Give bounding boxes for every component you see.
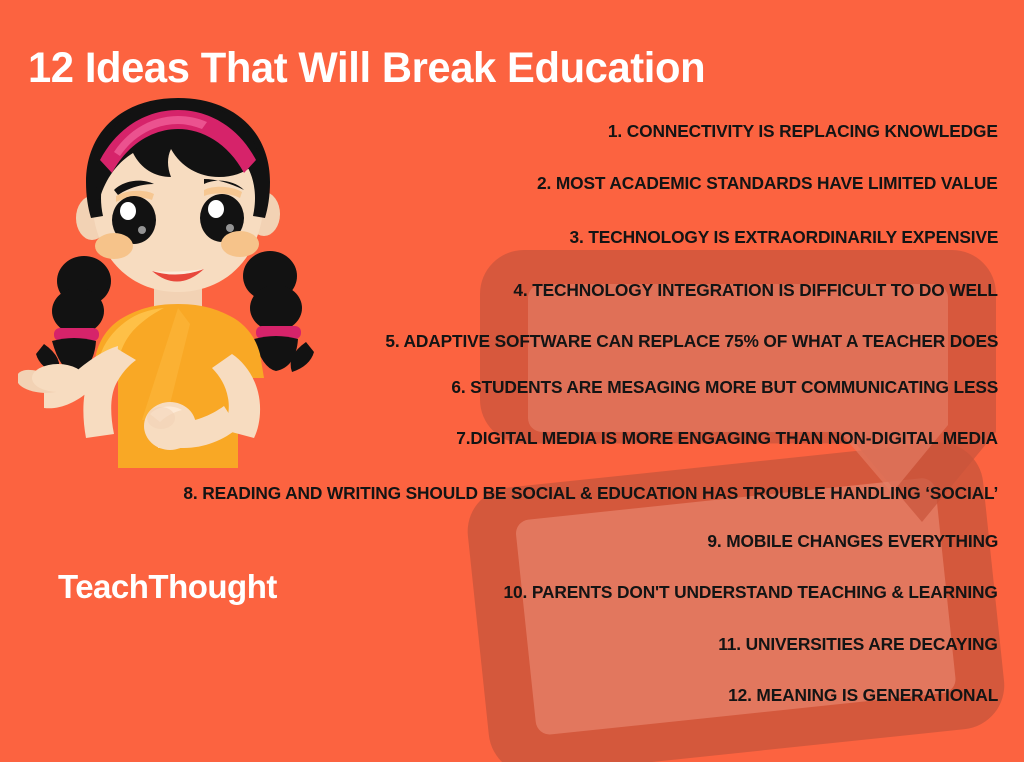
list-item-7: 7.DIGITAL MEDIA IS MORE ENGAGING THAN NO…: [456, 427, 998, 449]
cartoon-girl-illustration: [18, 96, 338, 468]
brand-logo-text: TeachThought: [58, 568, 277, 606]
list-item-11: 11. UNIVERSITIES ARE DECAYING: [719, 633, 998, 655]
list-item-8: 8. READING AND WRITING SHOULD BE SOCIAL …: [183, 482, 998, 504]
page-title: 12 Ideas That Will Break Education: [28, 43, 705, 93]
infographic-poster: 12 Ideas That Will Break Education: [0, 0, 1024, 768]
list-item-9: 9. MOBILE CHANGES EVERYTHING: [707, 530, 998, 552]
list-item-1: 1. CONNECTIVITY IS REPLACING KNOWLEDGE: [608, 120, 998, 142]
cheek-right: [221, 231, 259, 257]
list-item-2: 2. MOST ACADEMIC STANDARDS HAVE LIMITED …: [537, 172, 998, 194]
list-item-10: 10. PARENTS DON'T UNDERSTAND TEACHING & …: [504, 581, 998, 603]
list-item-4: 4. TECHNOLOGY INTEGRATION IS DIFFICULT T…: [514, 279, 998, 301]
list-item-12: 12. MEANING IS GENERATIONAL: [728, 684, 998, 706]
list-item-6: 6. STUDENTS ARE MESAGING MORE BUT COMMUN…: [451, 376, 998, 398]
list-item-3: 3. TECHNOLOGY IS EXTRAORDINARILY EXPENSI…: [569, 226, 998, 248]
bottom-divider: [0, 762, 1024, 768]
cheek-left: [95, 233, 133, 259]
list-item-5: 5. ADAPTIVE SOFTWARE CAN REPLACE 75% OF …: [385, 330, 998, 352]
